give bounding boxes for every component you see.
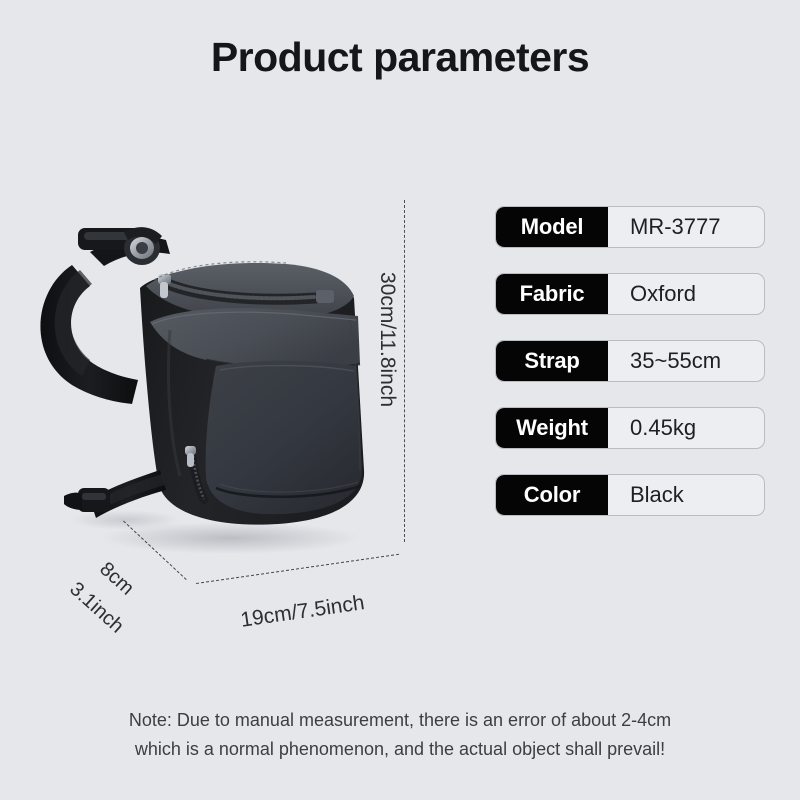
spec-row-weight: Weight 0.45kg xyxy=(495,407,765,449)
height-dimension-label: 30cm/11.8inch xyxy=(375,272,399,472)
spec-key-color: Color xyxy=(496,475,608,515)
measurement-note-line-1: Note: Due to manual measurement, there i… xyxy=(0,706,800,735)
spec-value-strap: 35~55cm xyxy=(608,341,764,381)
measurement-note-line-2: which is a normal phenomenon, and the ac… xyxy=(0,735,800,764)
spec-key-model: Model xyxy=(496,207,608,247)
product-image xyxy=(20,170,410,570)
spec-key-strap: Strap xyxy=(496,341,608,381)
spec-value-model: MR-3777 xyxy=(608,207,764,247)
measurement-note: Note: Due to manual measurement, there i… xyxy=(0,706,800,764)
spec-value-weight: 0.45kg xyxy=(608,408,764,448)
spec-value-fabric: Oxford xyxy=(608,274,764,314)
product-parameters-page: Product parameters xyxy=(0,0,800,800)
specification-table: Model MR-3777 Fabric Oxford Strap 35~55c… xyxy=(495,206,765,541)
tactical-leg-bag-illustration xyxy=(20,170,410,570)
spec-key-fabric: Fabric xyxy=(496,274,608,314)
spec-row-model: Model MR-3777 xyxy=(495,206,765,248)
spec-value-color: Black xyxy=(608,475,764,515)
width-dimension-label: 19cm/7.5inch xyxy=(239,591,366,633)
spec-row-color: Color Black xyxy=(495,474,765,516)
spec-key-weight: Weight xyxy=(496,408,608,448)
page-title: Product parameters xyxy=(0,34,800,81)
spec-row-strap: Strap 35~55cm xyxy=(495,340,765,382)
spec-row-fabric: Fabric Oxford xyxy=(495,273,765,315)
height-dimension-line xyxy=(404,200,405,542)
